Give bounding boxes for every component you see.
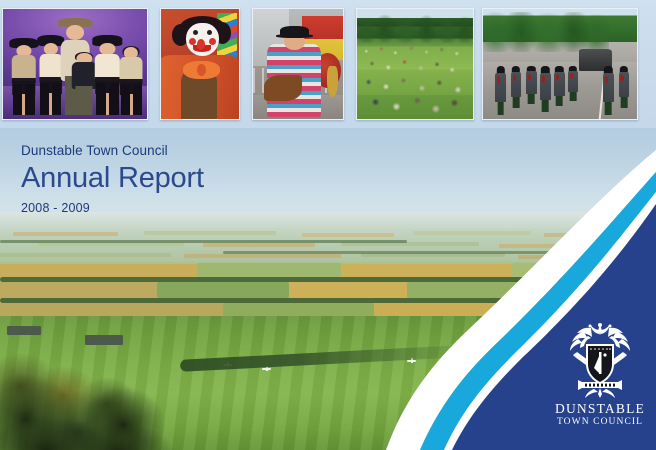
- page-title: Annual Report: [21, 162, 204, 194]
- report-period: 2008 - 2009: [21, 201, 204, 215]
- photo-strip: [0, 0, 656, 128]
- dunstable-coat-of-arms-icon: [564, 322, 636, 400]
- photo-street-performer: [252, 8, 344, 120]
- logo-name: DUNSTABLE: [551, 402, 649, 416]
- photo-park-crowd: [356, 8, 474, 120]
- cover-title-block: Dunstable Town Council Annual Report 200…: [21, 143, 204, 215]
- foreground-trees: [0, 308, 258, 450]
- council-logo: DUNSTABLE TOWN COUNCIL: [551, 322, 649, 428]
- organisation-name: Dunstable Town Council: [21, 143, 204, 160]
- annual-report-cover: Dunstable Town Council Annual Report 200…: [0, 0, 656, 450]
- photo-theatre-performers: [2, 8, 148, 120]
- photo-clown: [160, 8, 240, 120]
- photo-parade: [482, 8, 638, 120]
- logo-subtitle: TOWN COUNCIL: [551, 417, 649, 427]
